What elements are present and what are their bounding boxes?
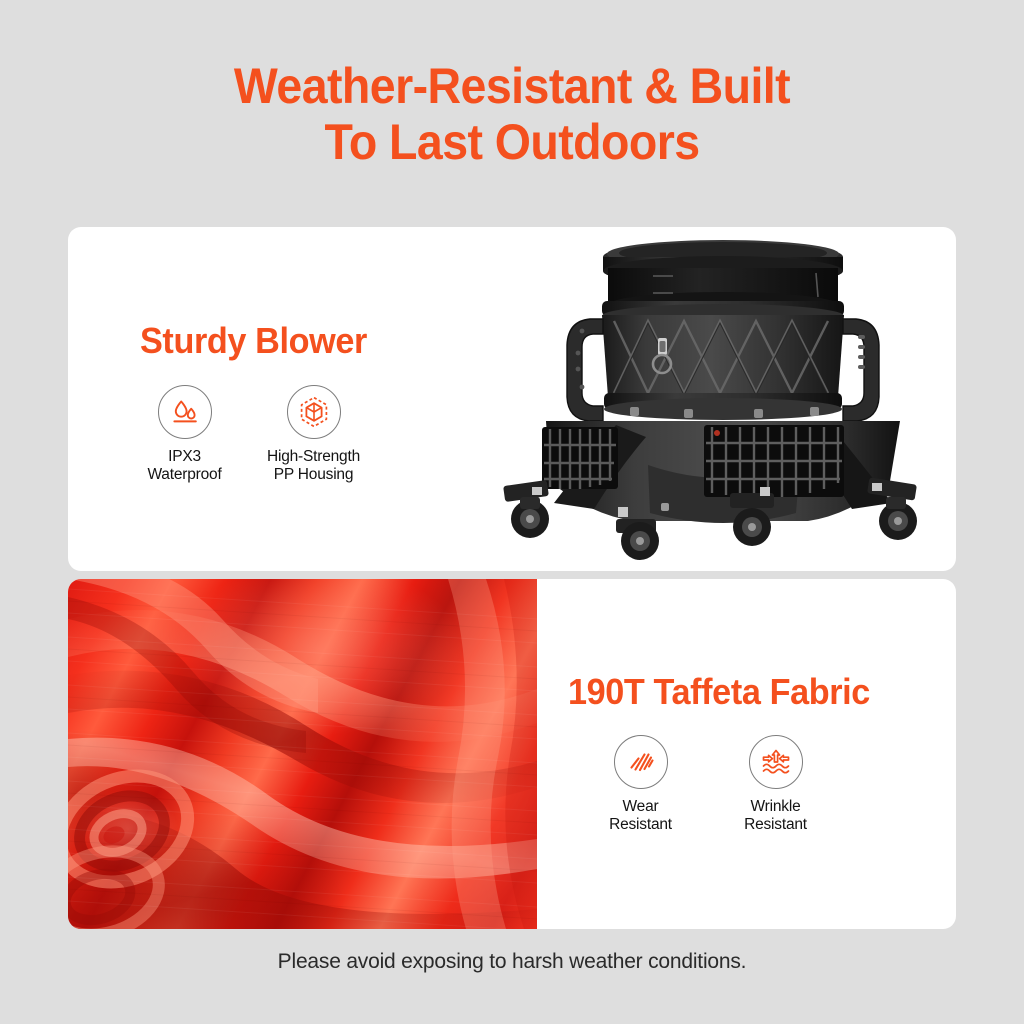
- page-title: Weather-Resistant & Built To Last Outdoo…: [36, 58, 988, 170]
- feature-label: Wrinkle Resistant: [744, 798, 807, 834]
- water-drops-icon: [158, 385, 212, 439]
- feature-label: High-Strength PP Housing: [267, 448, 360, 484]
- feature-label: Wear Resistant: [609, 798, 672, 834]
- feature-wrinkle-resistant: Wrinkle Resistant: [719, 735, 832, 834]
- feature-card-taffeta-fabric: 190T Taffeta Fabric Wear Resistant: [68, 579, 956, 929]
- feature-high-strength-pp-housing: High-Strength PP Housing: [257, 385, 370, 484]
- hexagon-cube-icon: [287, 385, 341, 439]
- abrasion-lines-icon: [614, 735, 668, 789]
- feature-card-sturdy-blower: Sturdy Blower IPX3 Waterproof: [68, 227, 956, 571]
- footer-note: Please avoid exposing to harsh weather c…: [0, 950, 1024, 974]
- card-title-sturdy-blower: Sturdy Blower: [140, 321, 367, 361]
- feature-icon-row-fabric: Wear Resistant: [584, 735, 832, 834]
- feature-icon-row-blower: IPX3 Waterproof High-Strength PP Housing: [128, 385, 370, 484]
- card-title-taffeta-fabric: 190T Taffeta Fabric: [568, 672, 870, 712]
- product-image-fabric: [68, 579, 537, 929]
- product-infographic: Weather-Resistant & Built To Last Outdoo…: [0, 0, 1024, 1024]
- feature-wear-resistant: Wear Resistant: [584, 735, 697, 834]
- arrows-over-waves-icon: [749, 735, 803, 789]
- product-image-blower: [498, 235, 948, 565]
- feature-label: IPX3 Waterproof: [147, 448, 221, 484]
- feature-ipx3-waterproof: IPX3 Waterproof: [128, 385, 241, 484]
